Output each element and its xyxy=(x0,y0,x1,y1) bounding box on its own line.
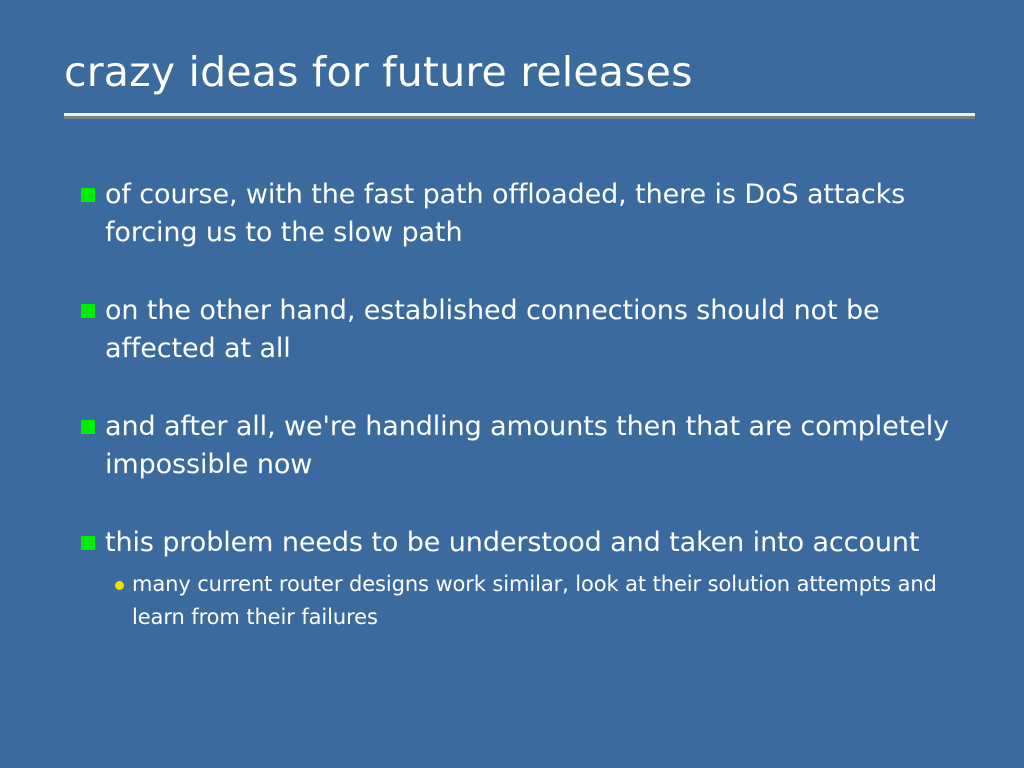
list-item: this problem needs to be understood and … xyxy=(81,524,961,634)
list-item: of course, with the fast path offloaded,… xyxy=(81,176,961,252)
list-item-label: of course, with the fast path offloaded,… xyxy=(105,176,961,252)
title-divider xyxy=(64,113,975,119)
green-square-bullet-icon xyxy=(81,420,95,434)
sub-list-item: many current router designs work similar… xyxy=(112,568,961,634)
green-square-bullet-icon xyxy=(81,536,95,550)
list-item-label: on the other hand, established connectio… xyxy=(105,292,961,368)
sub-bullet-list: many current router designs work similar… xyxy=(105,568,961,634)
list-item: and after all, we're handling amounts th… xyxy=(81,408,961,484)
list-item-label: and after all, we're handling amounts th… xyxy=(105,408,961,484)
list-item-label: this problem needs to be understood and … xyxy=(105,524,961,562)
yellow-dot-bullet-icon xyxy=(115,581,124,590)
sub-list-item-label: many current router designs work similar… xyxy=(132,568,961,634)
divider-shadow-line xyxy=(64,116,975,119)
title-block: crazy ideas for future releases xyxy=(64,50,976,96)
list-item: on the other hand, established connectio… xyxy=(81,292,961,368)
bullet-list: of course, with the fast path offloaded,… xyxy=(81,176,961,634)
page-title: crazy ideas for future releases xyxy=(64,50,976,96)
green-square-bullet-icon xyxy=(81,188,95,202)
green-square-bullet-icon xyxy=(81,304,95,318)
slide-canvas: crazy ideas for future releases of cours… xyxy=(0,0,1024,768)
